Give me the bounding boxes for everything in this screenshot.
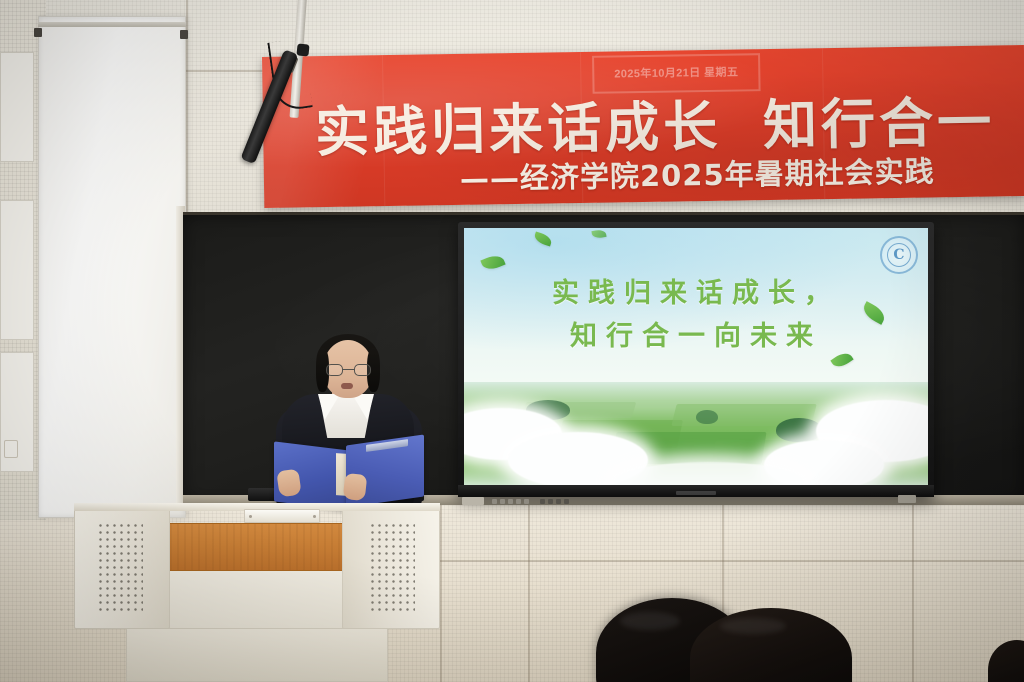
podium-right-wing bbox=[342, 507, 440, 629]
presenter bbox=[268, 332, 428, 507]
flat-panel-display[interactable]: 实践归来话成长， 知行合一向未来 经济学院2025年暑期社会实践团日活动 bbox=[458, 222, 934, 497]
whiteboard-clip bbox=[34, 28, 42, 37]
wainscot-seam bbox=[430, 560, 1024, 562]
display-button[interactable] bbox=[524, 499, 529, 504]
wainscot-seam bbox=[440, 502, 442, 682]
presentation-photo-scene: 2025年10月21日 星期五 实践归来话成长知行合一 ——经济学院2025年暑… bbox=[0, 0, 1024, 682]
display-port-row[interactable] bbox=[540, 497, 569, 505]
display-control-buttons[interactable] bbox=[492, 497, 529, 505]
glasses-icon bbox=[326, 364, 371, 376]
wall-panel bbox=[0, 200, 34, 340]
slide-title-line-1: 实践归来话成长， bbox=[552, 278, 840, 309]
banner-main-line-2: 知行合一 bbox=[763, 90, 996, 157]
event-banner: 2025年10月21日 星期五 实践归来话成长知行合一 ——经济学院2025年暑… bbox=[262, 45, 1024, 208]
whiteboard bbox=[38, 16, 186, 518]
speaker-grille-left bbox=[97, 522, 143, 614]
tree-clump bbox=[696, 410, 718, 424]
university-seal-logo: C bbox=[880, 236, 918, 274]
display-brand-logo bbox=[676, 491, 716, 495]
wainscot-seam bbox=[912, 502, 914, 682]
display-port[interactable] bbox=[548, 499, 553, 504]
whiteboard-rail bbox=[38, 22, 186, 27]
slide-landscape bbox=[464, 382, 928, 485]
microphone-mount bbox=[296, 43, 309, 56]
podium-wood-panel bbox=[162, 523, 344, 571]
display-port[interactable] bbox=[556, 499, 561, 504]
slide-screen: 实践归来话成长， 知行合一向未来 经济学院2025年暑期社会实践团日活动 bbox=[464, 228, 928, 485]
whiteboard-clip bbox=[180, 30, 188, 39]
presenter-hand-left bbox=[276, 469, 301, 498]
display-power-plate[interactable] bbox=[462, 497, 484, 505]
speaker-grille-right bbox=[369, 522, 415, 614]
slide-title-line-2: 知行合一向未来 bbox=[464, 315, 928, 359]
slide-title: 实践归来话成长， 知行合一向未来 bbox=[464, 272, 928, 359]
podium-control-plate[interactable] bbox=[244, 509, 320, 523]
display-button[interactable] bbox=[508, 499, 513, 504]
wall-outlet[interactable] bbox=[4, 440, 18, 458]
display-port[interactable] bbox=[540, 499, 545, 504]
wainscot-seam bbox=[528, 502, 530, 682]
presenter-hand-right bbox=[343, 473, 368, 501]
display-button[interactable] bbox=[516, 499, 521, 504]
display-side-plate[interactable] bbox=[898, 495, 916, 503]
display-button[interactable] bbox=[492, 499, 497, 504]
podium-left-wing bbox=[74, 507, 170, 629]
wall-panel bbox=[0, 52, 34, 162]
display-port[interactable] bbox=[564, 499, 569, 504]
banner-subtitle: ——经济学院2025年暑期社会实践 bbox=[460, 148, 935, 197]
podium bbox=[74, 505, 440, 682]
display-button[interactable] bbox=[500, 499, 505, 504]
display-bottom-bezel bbox=[458, 485, 934, 497]
presenter-mouth bbox=[341, 383, 353, 389]
seal-glyph: C bbox=[887, 243, 911, 267]
